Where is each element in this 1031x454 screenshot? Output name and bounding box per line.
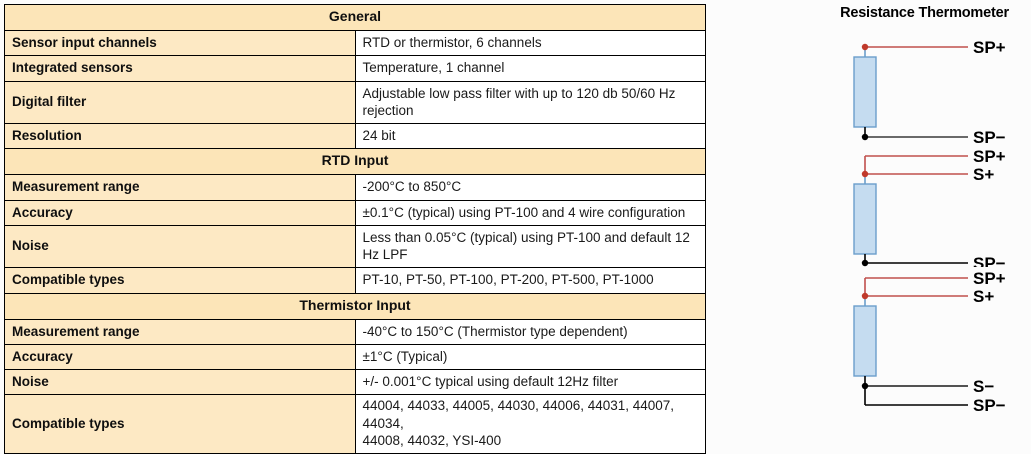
row-label-rtd-measurement-range: Measurement range (5, 175, 356, 200)
row-value-thermistor-measurement-range: -40°C to 150°C (Thermistor type dependen… (355, 319, 706, 344)
wiring-diagram-two-wire: SP+ SP− (818, 24, 1031, 144)
table-row: Noise +/- 0.001°C typical using default … (5, 370, 706, 395)
row-label-thermistor-compatible-types: Compatible types (5, 395, 356, 454)
row-label-rtd-compatible-types: Compatible types (5, 268, 356, 293)
row-value-sensor-input-channels: RTD or thermistor, 6 channels (355, 31, 706, 56)
row-value-thermistor-noise: +/- 0.001°C typical using default 12Hz f… (355, 370, 706, 395)
table-row: Noise Less than 0.05°C (typical) using P… (5, 225, 706, 268)
row-label-thermistor-accuracy: Accuracy (5, 344, 356, 369)
value-line-1: 44004, 44033, 44005, 44030, 44006, 44031… (363, 397, 699, 432)
row-label-resolution: Resolution (5, 124, 356, 149)
resistor-body (854, 57, 876, 127)
row-value-resolution: 24 bit (355, 124, 706, 149)
table-row: Measurement range -40°C to 150°C (Thermi… (5, 319, 706, 344)
value-line-2: 44008, 44032, YSI-400 (363, 432, 699, 449)
terminal-label-sp-plus: SP+ (973, 269, 1006, 288)
table-row: Integrated sensors Temperature, 1 channe… (5, 56, 706, 81)
terminal-label-sp-plus: SP+ (973, 38, 1006, 57)
node-dot-top (862, 44, 868, 50)
specifications-table: General Sensor input channels RTD or the… (4, 4, 706, 454)
resistor-body (854, 306, 876, 376)
row-value-rtd-accuracy: ±0.1°C (typical) using PT-100 and 4 wire… (355, 200, 706, 225)
table-section-header-row: RTD Input (5, 149, 706, 175)
resistance-thermometer-diagram-panel: Resistance Thermometer SP+ SP− (818, 0, 1031, 433)
row-label-thermistor-measurement-range: Measurement range (5, 319, 356, 344)
node-dot-top (862, 171, 868, 177)
table-row: Sensor input channels RTD or thermistor,… (5, 31, 706, 56)
terminal-label-s-plus: S+ (973, 287, 994, 306)
row-label-thermistor-noise: Noise (5, 370, 356, 395)
table-row: Digital filter Adjustable low pass filte… (5, 81, 706, 124)
terminal-label-sp-minus: SP− (973, 396, 1006, 415)
table-row: Measurement range -200°C to 850°C (5, 175, 706, 200)
row-label-sensor-input-channels: Sensor input channels (5, 31, 356, 56)
table-section-header-row: Thermistor Input (5, 293, 706, 319)
row-label-integrated-sensors: Integrated sensors (5, 56, 356, 81)
table-section-header-row: General (5, 5, 706, 31)
terminal-label-sp-plus: SP+ (973, 147, 1006, 166)
terminal-label-s-plus: S+ (973, 165, 994, 184)
wiring-diagram-three-wire: SP+ S+ SP− (818, 145, 1031, 267)
wiring-diagram-four-wire: SP+ S+ S− SP− (818, 266, 1031, 433)
node-dot-top (862, 293, 868, 299)
row-value-thermistor-accuracy: ±1°C (Typical) (355, 344, 706, 369)
node-dot-bottom (862, 134, 868, 140)
table-row: Compatible types PT-10, PT-50, PT-100, P… (5, 268, 706, 293)
node-dot-bottom (862, 383, 868, 389)
row-label-digital-filter: Digital filter (5, 81, 356, 124)
row-label-rtd-accuracy: Accuracy (5, 200, 356, 225)
section-title-rtd-input: RTD Input (5, 149, 706, 175)
table-row: Compatible types 44004, 44033, 44005, 44… (5, 395, 706, 454)
row-value-rtd-noise: Less than 0.05°C (typical) using PT-100 … (355, 225, 706, 268)
table-row: Accuracy ±1°C (Typical) (5, 344, 706, 369)
row-value-rtd-measurement-range: -200°C to 850°C (355, 175, 706, 200)
table-row: Resolution 24 bit (5, 124, 706, 149)
terminal-label-s-minus: S− (973, 377, 994, 396)
row-value-rtd-compatible-types: PT-10, PT-50, PT-100, PT-200, PT-500, PT… (355, 268, 706, 293)
row-value-thermistor-compatible-types: 44004, 44033, 44005, 44030, 44006, 44031… (355, 395, 706, 454)
section-title-thermistor-input: Thermistor Input (5, 293, 706, 319)
row-label-rtd-noise: Noise (5, 225, 356, 268)
section-title-general: General (5, 5, 706, 31)
terminal-label-sp-minus: SP− (973, 128, 1006, 144)
row-value-digital-filter: Adjustable low pass filter with up to 12… (355, 81, 706, 124)
resistor-body (854, 184, 876, 254)
row-value-integrated-sensors: Temperature, 1 channel (355, 56, 706, 81)
table-row: Accuracy ±0.1°C (typical) using PT-100 a… (5, 200, 706, 225)
diagram-title: Resistance Thermometer (818, 5, 1031, 21)
spec-table-body: General Sensor input channels RTD or the… (5, 5, 706, 454)
